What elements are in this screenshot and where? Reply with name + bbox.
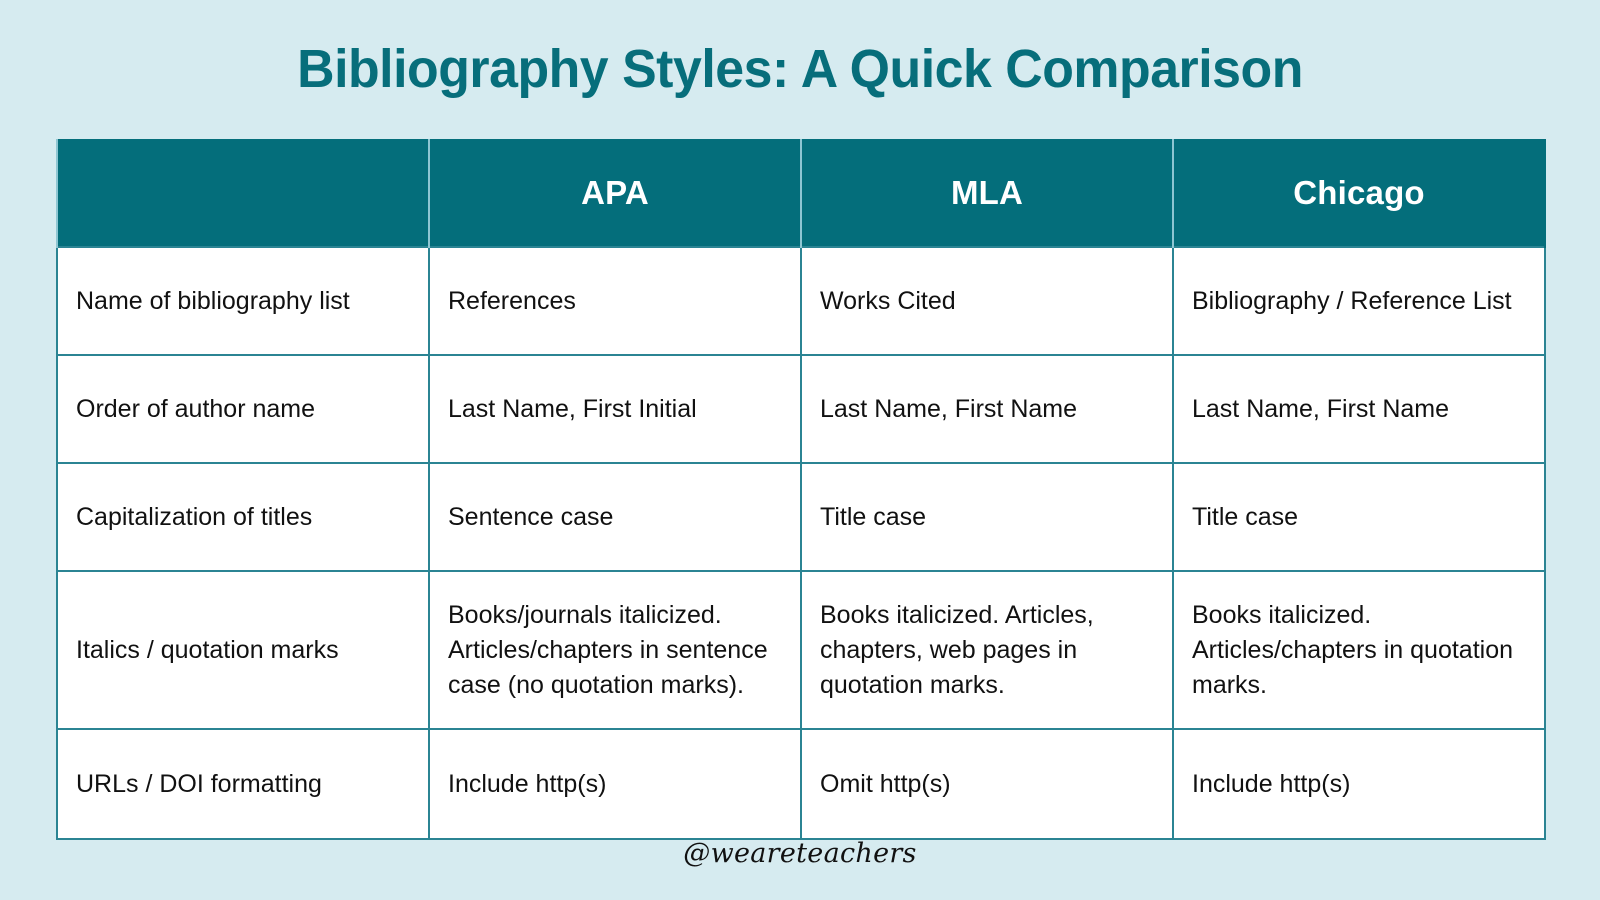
table-row: Capitalization of titles Sentence case T… [57, 463, 1545, 571]
cell-mla: Omit http(s) [801, 729, 1173, 839]
column-header-chicago: Chicago [1173, 139, 1545, 247]
cell-chicago: Bibliography / Reference List [1173, 247, 1545, 355]
cell-apa: Books/journals italicized. Articles/chap… [429, 571, 801, 729]
table-row: URLs / DOI formatting Include http(s) Om… [57, 729, 1545, 839]
cell-apa: Last Name, First Initial [429, 355, 801, 463]
row-label: Capitalization of titles [57, 463, 429, 571]
row-label: Name of bibliography list [57, 247, 429, 355]
cell-apa: Sentence case [429, 463, 801, 571]
cell-mla: Works Cited [801, 247, 1173, 355]
table-row: Italics / quotation marks Books/journals… [57, 571, 1545, 729]
bibliography-comparison-table: APA MLA Chicago Name of bibliography lis… [56, 139, 1546, 840]
cell-mla: Books italicized. Articles, chapters, we… [801, 571, 1173, 729]
row-label: URLs / DOI formatting [57, 729, 429, 839]
cell-mla: Last Name, First Name [801, 355, 1173, 463]
column-header-mla: MLA [801, 139, 1173, 247]
comparison-table-wrapper: APA MLA Chicago Name of bibliography lis… [56, 139, 1544, 840]
cell-apa: Include http(s) [429, 729, 801, 839]
table-row: Order of author name Last Name, First In… [57, 355, 1545, 463]
social-handle-watermark: @weareteachers [0, 838, 1600, 869]
cell-chicago: Title case [1173, 463, 1545, 571]
column-header-apa: APA [429, 139, 801, 247]
table-header: APA MLA Chicago [57, 139, 1545, 247]
row-label: Order of author name [57, 355, 429, 463]
page-title: Bibliography Styles: A Quick Comparison [32, 38, 1568, 100]
row-label: Italics / quotation marks [57, 571, 429, 729]
table-body: Name of bibliography list References Wor… [57, 247, 1545, 839]
table-header-row: APA MLA Chicago [57, 139, 1545, 247]
table-row: Name of bibliography list References Wor… [57, 247, 1545, 355]
cell-chicago: Include http(s) [1173, 729, 1545, 839]
cell-mla: Title case [801, 463, 1173, 571]
column-header-blank [57, 139, 429, 247]
cell-apa: References [429, 247, 801, 355]
infographic-page: Bibliography Styles: A Quick Comparison … [0, 0, 1600, 900]
cell-chicago: Last Name, First Name [1173, 355, 1545, 463]
cell-chicago: Books italicized. Articles/chapters in q… [1173, 571, 1545, 729]
